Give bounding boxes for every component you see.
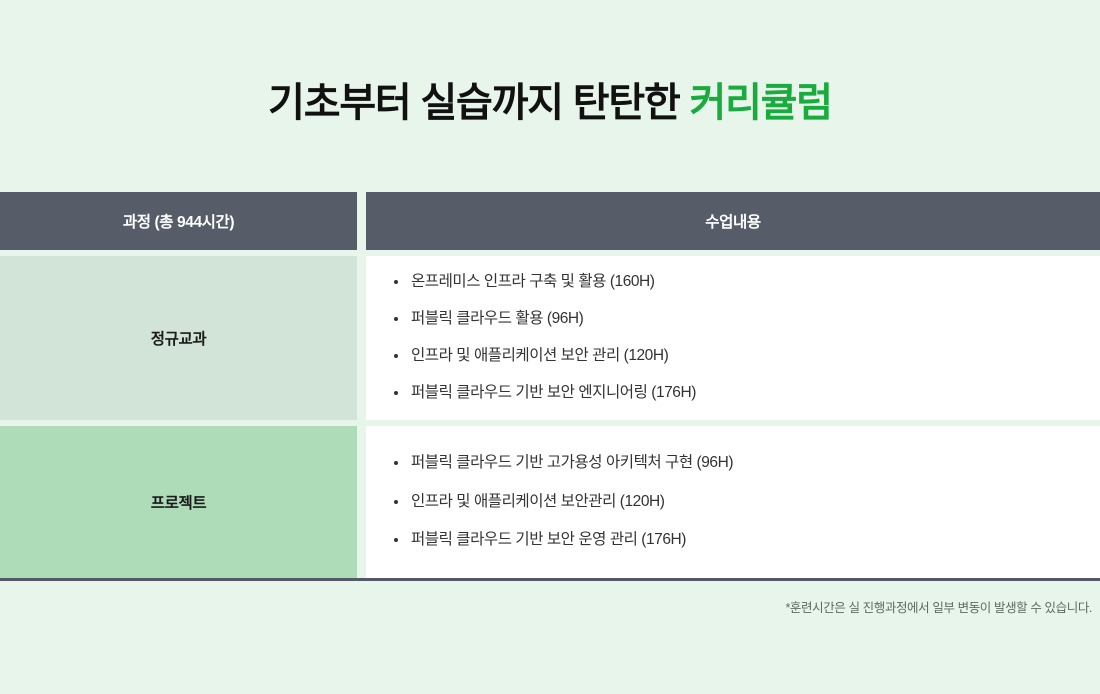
row-label-cell-project: 프로젝트 <box>0 426 357 578</box>
page-title-accent: 커리큘럼 <box>689 81 831 125</box>
page-title-lead: 기초부터 실습까지 탄탄한 <box>268 81 689 125</box>
row-label-cell-regular: 정규교과 <box>0 256 357 420</box>
list-item: 퍼블릭 클라우드 기반 보안 운영 관리 (176H) <box>394 530 1100 551</box>
row-label-regular: 정규교과 <box>151 327 206 349</box>
list-item: 인프라 및 애플리케이션 보안 관리 (120H) <box>394 346 1100 367</box>
list-item: 퍼블릭 클라우드 활용 (96H) <box>394 309 1100 330</box>
page-title-section: 기초부터 실습까지 탄탄한 커리큘럼 <box>0 0 1100 192</box>
row-content-cell-project: 퍼블릭 클라우드 기반 고가용성 아키텍처 구현 (96H) 인프라 및 애플리… <box>366 426 1100 578</box>
page-title: 기초부터 실습까지 탄탄한 커리큘럼 <box>268 81 832 125</box>
footnote-section: *훈련시간은 실 진행과정에서 일부 변동이 발생할 수 있습니다. <box>0 581 1100 616</box>
header-cell-course-label: 과정 (총 944시간) <box>123 210 234 232</box>
list-item: 인프라 및 애플리케이션 보안관리 (120H) <box>394 492 1100 513</box>
table-row: 프로젝트 퍼블릭 클라우드 기반 고가용성 아키텍처 구현 (96H) 인프라 … <box>0 426 1100 578</box>
list-item: 퍼블릭 클라우드 기반 고가용성 아키텍처 구현 (96H) <box>394 453 1100 474</box>
header-cell-course: 과정 (총 944시간) <box>0 192 357 250</box>
curriculum-page: { "title": { "lead": "기초부터 실습까지 탄탄한 ", "… <box>0 0 1100 694</box>
header-cell-content-label: 수업내용 <box>705 210 760 232</box>
table-header-row: 과정 (총 944시간) 수업내용 <box>0 192 1100 250</box>
table-row: 정규교과 온프레미스 인프라 구축 및 활용 (160H) 퍼블릭 클라우드 활… <box>0 256 1100 420</box>
row-label-project: 프로젝트 <box>151 491 206 513</box>
row-content-cell-regular: 온프레미스 인프라 구축 및 활용 (160H) 퍼블릭 클라우드 활용 (96… <box>366 256 1100 420</box>
footnote-text: *훈련시간은 실 진행과정에서 일부 변동이 발생할 수 있습니다. <box>785 597 1092 616</box>
list-item: 퍼블릭 클라우드 기반 보안 엔지니어링 (176H) <box>394 383 1100 404</box>
course-list-regular: 온프레미스 인프라 구축 및 활용 (160H) 퍼블릭 클라우드 활용 (96… <box>366 272 1100 404</box>
list-item: 온프레미스 인프라 구축 및 활용 (160H) <box>394 272 1100 293</box>
header-cell-content: 수업내용 <box>366 192 1100 250</box>
course-list-project: 퍼블릭 클라우드 기반 고가용성 아키텍처 구현 (96H) 인프라 및 애플리… <box>366 453 1100 552</box>
curriculum-table: 과정 (총 944시간) 수업내용 정규교과 온프레미스 인프라 구축 및 활용… <box>0 192 1100 581</box>
